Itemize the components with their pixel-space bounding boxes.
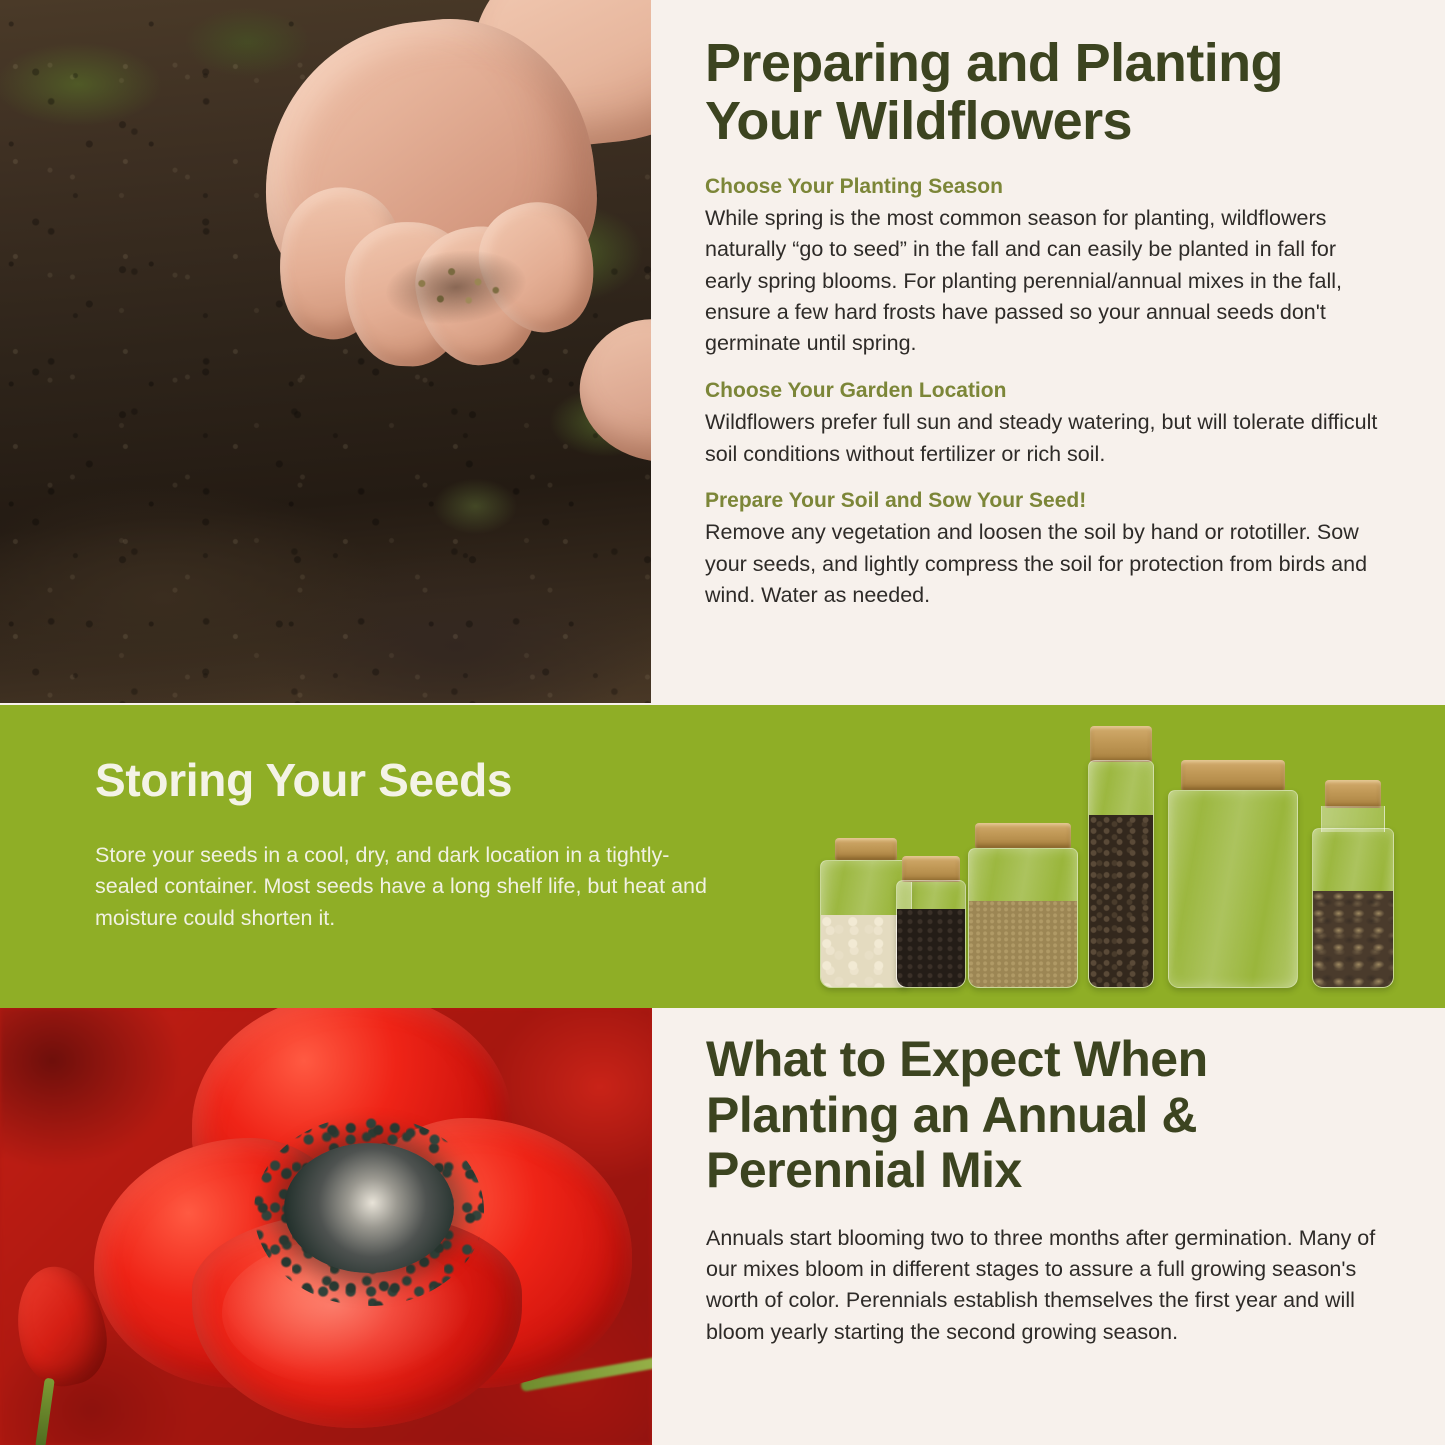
storing-seeds-paragraph: Store your seeds in a cool, dry, and dar… (95, 840, 720, 934)
section-storing-your-seeds: Storing Your Seeds Store your seeds in a… (0, 705, 1445, 1008)
section-what-to-expect: What to Expect When Planting an Annual &… (0, 1008, 1445, 1445)
cork-lid-icon (1181, 760, 1285, 790)
jar-glass (1312, 828, 1394, 988)
jar-glass (896, 880, 966, 988)
cork-lid-icon (1090, 726, 1152, 762)
jar-black-seeds (896, 858, 966, 988)
poppy-center (284, 1143, 454, 1273)
jar-contents (969, 901, 1077, 987)
section-preparing-and-planting: Preparing and Planting Your Wildflowers … (0, 0, 1445, 705)
subheading-prepare-soil: Prepare Your Soil and Sow Your Seed! (705, 487, 1383, 515)
jar-pumpkin-seeds (1168, 760, 1298, 988)
infographic-page: Preparing and Planting Your Wildflowers … (0, 0, 1445, 1445)
hand-sowing-seeds-image (0, 0, 651, 703)
jar-tall-dark-seeds (1088, 726, 1154, 988)
jar-glass (1168, 790, 1298, 988)
seed-jars-image (820, 715, 1420, 1000)
poppy-bloom (72, 1008, 632, 1428)
cork-lid-icon (835, 838, 897, 860)
storing-seeds-title: Storing Your Seeds (95, 753, 512, 807)
jar-contents (897, 909, 965, 987)
paragraph-planting-season: While spring is the most common season f… (705, 203, 1383, 360)
jar-contents (1169, 859, 1297, 987)
jar-glass (968, 848, 1078, 988)
jar-contents (1089, 815, 1153, 987)
hand-graphic (183, 0, 651, 523)
cork-lid-icon (975, 823, 1071, 848)
what-to-expect-paragraph: Annuals start blooming two to three mont… (706, 1223, 1383, 1349)
jar-tan-grain (968, 823, 1078, 988)
what-to-expect-title: What to Expect When Planting an Annual &… (706, 1032, 1383, 1199)
cork-lid-icon (1325, 780, 1381, 808)
jar-mixed-seeds (1312, 780, 1394, 988)
subheading-garden-location: Choose Your Garden Location (705, 377, 1383, 405)
jar-glass (1088, 760, 1154, 988)
paragraph-garden-location: Wildflowers prefer full sun and steady w… (705, 407, 1383, 470)
top-text-column: Preparing and Planting Your Wildflowers … (651, 0, 1445, 705)
paragraph-prepare-soil: Remove any vegetation and loosen the soi… (705, 517, 1383, 611)
subheading-planting-season: Choose Your Planting Season (705, 173, 1383, 201)
bottom-text-column: What to Expect When Planting an Annual &… (652, 1008, 1445, 1445)
jar-contents (1313, 891, 1393, 987)
red-poppy-image (0, 1008, 652, 1445)
cork-lid-icon (902, 856, 960, 882)
page-title: Preparing and Planting Your Wildflowers (705, 34, 1383, 151)
